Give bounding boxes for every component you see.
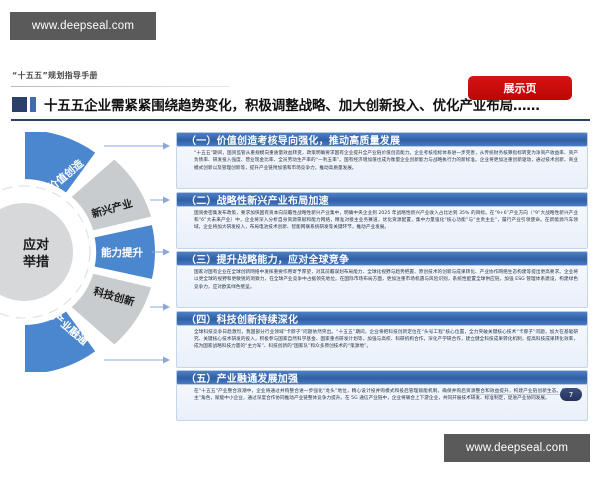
wheel-core-label-line2: 举措 [22, 254, 49, 270]
content-blocks: （一）价值创造考核导向强化，推动高质量发展 “十五五”期间，国资监管从重规模向重… [176, 132, 588, 424]
demo-page-badge: 展示页 [468, 76, 572, 100]
content-block-3: （三）提升战略能力，应对全球竞争 国家对国有企业在全球创新网络中发挥重要作用寄予… [176, 251, 588, 308]
header-divider [11, 86, 230, 87]
page-title: 十五五企业需紧紧围绕趋势变化，积极调整战略、加大创新投入、优化产业布局…… [44, 94, 540, 114]
watermark-bottom: www.deepseal.com [444, 434, 590, 462]
block-heading-4: （四）科技创新持续深化 [176, 311, 588, 326]
connector-arrowhead-4 [163, 304, 170, 311]
measures-wheel-diagram: 应对 举措 价值创造 新兴产业 能力提升 科技创新 产业融通 [0, 132, 180, 372]
connector-arrowhead-3 [163, 249, 170, 256]
connector-arrowhead-1 [163, 143, 170, 150]
content-block-4: （四）科技创新持续深化 全球科技竞争日趋激烈，我国部分行业领域“卡脖子”问题依然… [176, 311, 588, 368]
title-marker-bar-icon [30, 97, 36, 112]
block-heading-2: （二）战略性新兴产业布局加速 [176, 192, 588, 207]
handbook-subtitle: “十五五”规划指导手册 [12, 70, 98, 81]
content-block-1: （一）价值创造考核导向强化，推动高质量发展 “十五五”期间，国资监管从重规模向重… [176, 132, 588, 189]
block-heading-5: （五）产业融通发展加强 [176, 370, 588, 385]
wheel-label-capability-improvement: 能力提升 [101, 246, 143, 259]
block-heading-1: （一）价值创造考核导向强化，推动高质量发展 [176, 132, 588, 147]
watermark-top-text: www.deepseal.com [32, 20, 134, 32]
wheel-svg: 应对 举措 价值创造 新兴产业 能力提升 科技创新 产业融通 [0, 132, 180, 372]
connector-arrowhead-5 [163, 357, 170, 364]
block-body-2: 国资委密集发布政策，要求加快国有资本向前瞻性战略性新兴产业集中，明确中央企业到 … [176, 207, 588, 249]
block-body-5: 在“十五五”产业整合浪潮中，企业将通过并购整合进一步强化“龙头”地位，精心设计投… [176, 385, 588, 421]
page-number-rule [470, 394, 562, 395]
title-underline [11, 119, 590, 121]
block-body-3: 国家对国有企业在全球创新网络中发挥重要作用寄予厚望，对其前瞻谋划布局能力、全球化… [176, 266, 588, 308]
title-marker-square-icon [12, 97, 27, 112]
connector-arrowhead-2 [163, 197, 170, 204]
watermark-bottom-text: www.deepseal.com [466, 442, 568, 454]
content-block-2: （二）战略性新兴产业布局加速 国资委密集发布政策，要求加快国有资本向前瞻性战略性… [176, 192, 588, 249]
watermark-top: www.deepseal.com [10, 12, 156, 40]
block-body-1: “十五五”期间，国资监管从重规模向重质量效益转变，政策明确要求国有企业提升全产业… [176, 147, 588, 189]
block-body-4: 全球科技竞争日趋激烈，我国部分行业领域“卡脖子”问题依然突出。“十五五”期间，企… [176, 326, 588, 368]
block-heading-3: （三）提升战略能力，应对全球竞争 [176, 251, 588, 266]
content-block-5: （五）产业融通发展加强 在“十五五”产业整合浪潮中，企业将通过并购整合进一步强化… [176, 370, 588, 421]
page-number-badge: 7 [560, 388, 582, 401]
wheel-core-label-line1: 应对 [23, 237, 49, 253]
